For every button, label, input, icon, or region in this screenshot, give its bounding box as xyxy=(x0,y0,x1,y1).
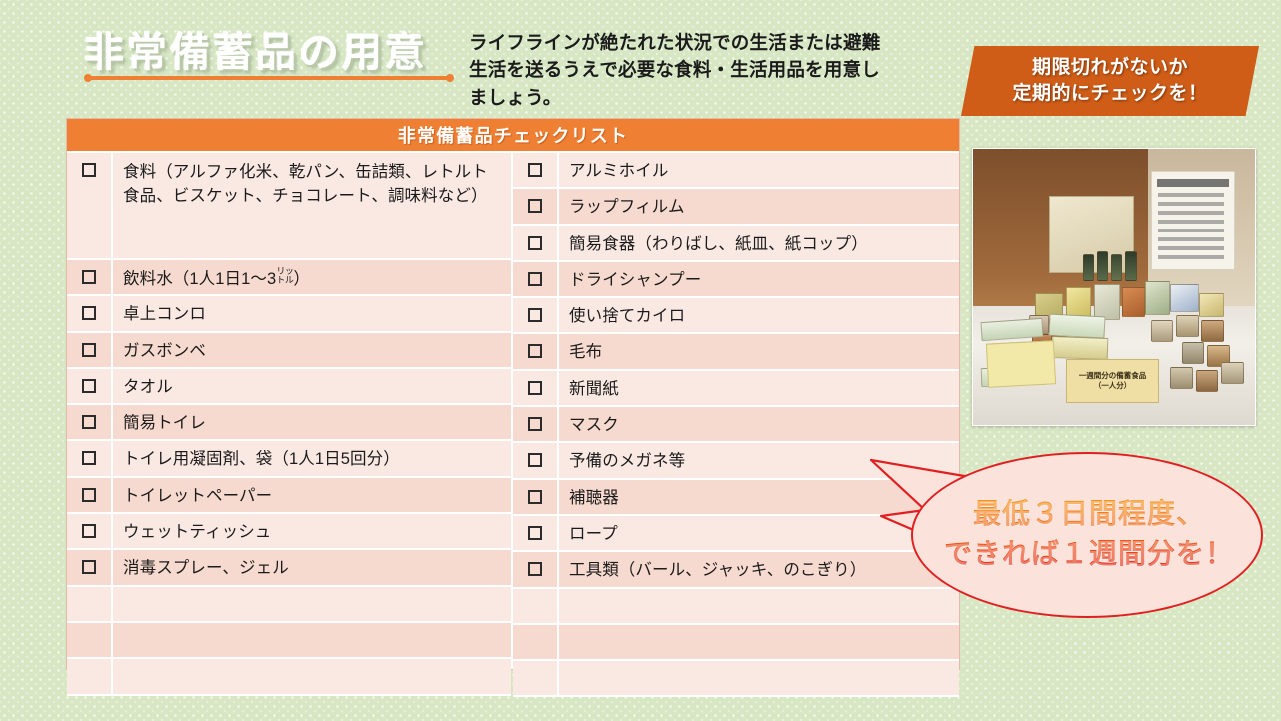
checkbox-icon[interactable] xyxy=(528,381,542,395)
checkbox-cell[interactable] xyxy=(67,550,113,584)
photo-memo-card xyxy=(986,340,1056,388)
checklist-left-column: 食料（アルファ化米、乾パン、缶詰類、レトルト食品、ビスケット、チョコレート、調味… xyxy=(67,153,513,669)
speech-bubble-text: 最低３日間程度、 できれば１週間分を！ xyxy=(929,494,1249,574)
checkbox-icon[interactable] xyxy=(528,526,542,540)
checkbox-cell[interactable] xyxy=(67,153,113,258)
checkbox-icon[interactable] xyxy=(528,490,542,504)
photo-bottle xyxy=(1097,251,1108,281)
advice-speech-bubble: 最低３日間程度、 できれば１週間分を！ xyxy=(889,452,1263,618)
checkbox-cell[interactable] xyxy=(513,189,559,223)
page-title: 非常備蓄品の用意 xyxy=(84,20,428,78)
photo-poster-title xyxy=(1157,179,1230,187)
checklist-empty-row xyxy=(67,587,511,623)
checkbox-cell xyxy=(513,589,559,623)
checklist-row[interactable]: 毛布 xyxy=(513,334,959,370)
photo-poster-line xyxy=(1158,193,1224,197)
checkbox-cell[interactable] xyxy=(67,296,113,330)
checklist-item-label: トイレ用凝固剤、袋（1人1日5回分） xyxy=(113,441,511,479)
checkbox-icon[interactable] xyxy=(82,560,96,574)
checklist-empty-row xyxy=(67,623,511,659)
checkbox-cell[interactable] xyxy=(67,514,113,548)
photo-package xyxy=(1094,284,1119,320)
photo-sign-line1: 一週間分の備蓄食品 xyxy=(1079,371,1147,380)
checklist-title: 非常備蓄品チェックリスト xyxy=(398,122,628,148)
checkbox-cell[interactable] xyxy=(67,405,113,439)
photo-rice-packet xyxy=(1052,336,1109,360)
checkbox-icon[interactable] xyxy=(82,270,96,284)
rule-dot-right xyxy=(446,74,454,82)
checklist-empty-row xyxy=(513,625,959,661)
checklist-item-label: 新聞紙 xyxy=(559,371,959,409)
checkbox-icon[interactable] xyxy=(528,199,542,213)
stockpile-photo: 一週間分の備蓄食品 （一人分） xyxy=(972,148,1256,426)
checklist-item-label xyxy=(559,661,959,675)
photo-sign: 一週間分の備蓄食品 （一人分） xyxy=(1066,359,1159,403)
checkbox-icon[interactable] xyxy=(82,488,96,502)
checkbox-cell[interactable] xyxy=(513,371,559,405)
checklist-row[interactable]: ラップフィルム xyxy=(513,189,959,225)
checkbox-icon[interactable] xyxy=(82,451,96,465)
checklist-empty-row xyxy=(67,659,511,695)
photo-package xyxy=(1170,284,1198,312)
checklist-table-header: 非常備蓄品チェックリスト xyxy=(67,119,959,153)
checklist-item-label: 飲料水（1人1日1～3リットル） xyxy=(113,260,511,299)
checkbox-icon[interactable] xyxy=(528,236,542,250)
checklist-item-label: ウェットティッシュ xyxy=(113,514,511,552)
speech-bubble-line2: できれば１週間分を！ xyxy=(929,534,1249,574)
photo-can xyxy=(1170,367,1193,389)
photo-poster-line xyxy=(1158,246,1224,250)
speech-bubble-line1: 最低３日間程度、 xyxy=(929,494,1249,534)
photo-can xyxy=(1176,315,1199,337)
emergency-supplies-checklist-table: 非常備蓄品チェックリスト 食料（アルファ化米、乾パン、缶詰類、レトルト食品、ビス… xyxy=(66,118,960,670)
checklist-item-label: 食料（アルファ化米、乾パン、缶詰類、レトルト食品、ビスケット、チョコレート、調味… xyxy=(113,153,511,216)
photo-poster-line xyxy=(1158,237,1224,241)
checklist-row[interactable]: トイレットペーパー xyxy=(67,478,511,514)
title-underline-rule xyxy=(84,76,454,80)
checkbox-cell[interactable] xyxy=(513,334,559,368)
photo-rice-packet xyxy=(1049,313,1106,338)
checklist-item-label: ラップフィルム xyxy=(559,189,959,227)
checklist-row[interactable]: 簡易食器（わりばし、紙皿、紙コップ） xyxy=(513,226,959,262)
checklist-columns: 食料（アルファ化米、乾パン、缶詰類、レトルト食品、ビスケット、チョコレート、調味… xyxy=(67,153,959,669)
checklist-item-label xyxy=(559,625,959,639)
photo-poster xyxy=(1151,171,1236,270)
header-area: 非常備蓄品の用意 ライフラインが絶たれた状況での生活または避難生活を送るうえで必… xyxy=(0,0,1281,120)
checkbox-cell xyxy=(513,625,559,659)
checkbox-icon[interactable] xyxy=(528,272,542,286)
checklist-row[interactable]: 消毒スプレー、ジェル xyxy=(67,550,511,586)
photo-poster-line xyxy=(1158,229,1224,233)
checklist-row[interactable]: アルミホイル xyxy=(513,153,959,189)
intro-paragraph: ライフラインが絶たれた状況での生活または避難生活を送るうえで必要な食料・生活用品… xyxy=(469,29,889,111)
checkbox-cell xyxy=(67,587,113,621)
checkbox-icon[interactable] xyxy=(82,415,96,429)
checkbox-cell[interactable] xyxy=(513,480,559,514)
expiry-banner-line1: 期限切れがないか xyxy=(1012,55,1207,81)
expiry-check-banner: 期限切れがないか 定期的にチェックを！ xyxy=(961,46,1259,116)
checklist-item-label: マスク xyxy=(559,407,959,445)
checklist-empty-row xyxy=(513,661,959,697)
unit-ruby-label: リットル xyxy=(276,267,293,284)
checkbox-cell[interactable] xyxy=(513,262,559,296)
photo-poster-line xyxy=(1158,211,1224,215)
checkbox-cell[interactable] xyxy=(67,441,113,475)
photo-sign-line2: （一人分） xyxy=(1094,381,1132,390)
rule-bar xyxy=(88,76,450,80)
checklist-row[interactable]: ドライシャンプー xyxy=(513,262,959,298)
checklist-item-label: ガスボンベ xyxy=(113,333,511,371)
checkbox-cell[interactable] xyxy=(67,369,113,403)
checkbox-cell[interactable] xyxy=(67,478,113,512)
checklist-item-label: タオル xyxy=(113,369,511,407)
checkbox-cell[interactable] xyxy=(513,516,559,550)
checklist-item-label: ドライシャンプー xyxy=(559,262,959,300)
checklist-item-label: 簡易トイレ xyxy=(113,405,511,443)
photo-can xyxy=(1221,362,1244,384)
checkbox-cell xyxy=(513,661,559,695)
photo-poster-line xyxy=(1158,220,1224,224)
checklist-row[interactable]: 新聞紙 xyxy=(513,371,959,407)
checklist-item-label xyxy=(113,587,511,601)
checkbox-icon[interactable] xyxy=(528,453,542,467)
checklist-row[interactable]: トイレ用凝固剤、袋（1人1日5回分） xyxy=(67,441,511,477)
checklist-row[interactable]: 飲料水（1人1日1～3リットル） xyxy=(67,260,511,296)
checklist-item-label: 簡易食器（わりばし、紙皿、紙コップ） xyxy=(559,226,959,264)
checklist-item-label: 使い捨てカイロ xyxy=(559,298,959,336)
checklist-row[interactable]: 使い捨てカイロ xyxy=(513,298,959,334)
checklist-item-label: トイレットペーパー xyxy=(113,478,511,516)
checkbox-icon[interactable] xyxy=(528,163,542,177)
checklist-item-label xyxy=(113,623,511,637)
photo-bottle xyxy=(1125,251,1136,281)
checkbox-icon[interactable] xyxy=(82,163,96,177)
photo-can xyxy=(1151,320,1174,342)
photo-package xyxy=(1122,287,1145,317)
photo-poster-line xyxy=(1158,202,1224,206)
checkbox-cell[interactable] xyxy=(513,298,559,332)
checkbox-cell[interactable] xyxy=(513,226,559,260)
checklist-item-label: 消毒スプレー、ジェル xyxy=(113,550,511,588)
checkbox-cell[interactable] xyxy=(513,407,559,441)
checklist-row[interactable]: マスク xyxy=(513,407,959,443)
checkbox-icon[interactable] xyxy=(528,344,542,358)
checkbox-cell xyxy=(67,623,113,657)
photo-poster-line xyxy=(1158,255,1224,259)
checkbox-icon[interactable] xyxy=(82,524,96,538)
checklist-row[interactable]: ウェットティッシュ xyxy=(67,514,511,550)
checkbox-icon[interactable] xyxy=(528,308,542,322)
photo-package xyxy=(1066,287,1091,317)
checklist-item-label: アルミホイル xyxy=(559,153,959,191)
checkbox-cell[interactable] xyxy=(67,260,113,294)
checkbox-icon[interactable] xyxy=(82,379,96,393)
photo-bottle xyxy=(1083,254,1094,282)
checkbox-cell[interactable] xyxy=(513,443,559,477)
photo-can xyxy=(1201,320,1224,342)
checkbox-icon[interactable] xyxy=(82,306,96,320)
checkbox-icon[interactable] xyxy=(82,343,96,357)
checklist-row[interactable]: 食料（アルファ化米、乾パン、缶詰類、レトルト食品、ビスケット、チョコレート、調味… xyxy=(67,153,511,260)
checklist-row[interactable]: タオル xyxy=(67,369,511,405)
photo-package xyxy=(1199,293,1224,318)
photo-bottle xyxy=(1111,254,1122,282)
photo-package xyxy=(1145,281,1170,314)
photo-can xyxy=(1196,370,1219,392)
checkbox-cell[interactable] xyxy=(513,153,559,187)
checklist-row[interactable]: ガスボンベ xyxy=(67,333,511,369)
checkbox-cell xyxy=(67,659,113,693)
expiry-banner-line2: 定期的にチェックを！ xyxy=(1012,81,1207,107)
checkbox-cell[interactable] xyxy=(513,552,559,586)
checklist-row[interactable]: 卓上コンロ xyxy=(67,296,511,332)
checklist-row[interactable]: 簡易トイレ xyxy=(67,405,511,441)
checklist-item-label xyxy=(113,659,511,673)
checklist-item-label: 卓上コンロ xyxy=(113,296,511,334)
checklist-item-label: 毛布 xyxy=(559,334,959,372)
checkbox-cell[interactable] xyxy=(67,333,113,367)
expiry-banner-text: 期限切れがないか 定期的にチェックを！ xyxy=(1012,55,1207,106)
checkbox-icon[interactable] xyxy=(528,417,542,431)
checkbox-icon[interactable] xyxy=(528,562,542,576)
photo-can xyxy=(1182,342,1205,364)
